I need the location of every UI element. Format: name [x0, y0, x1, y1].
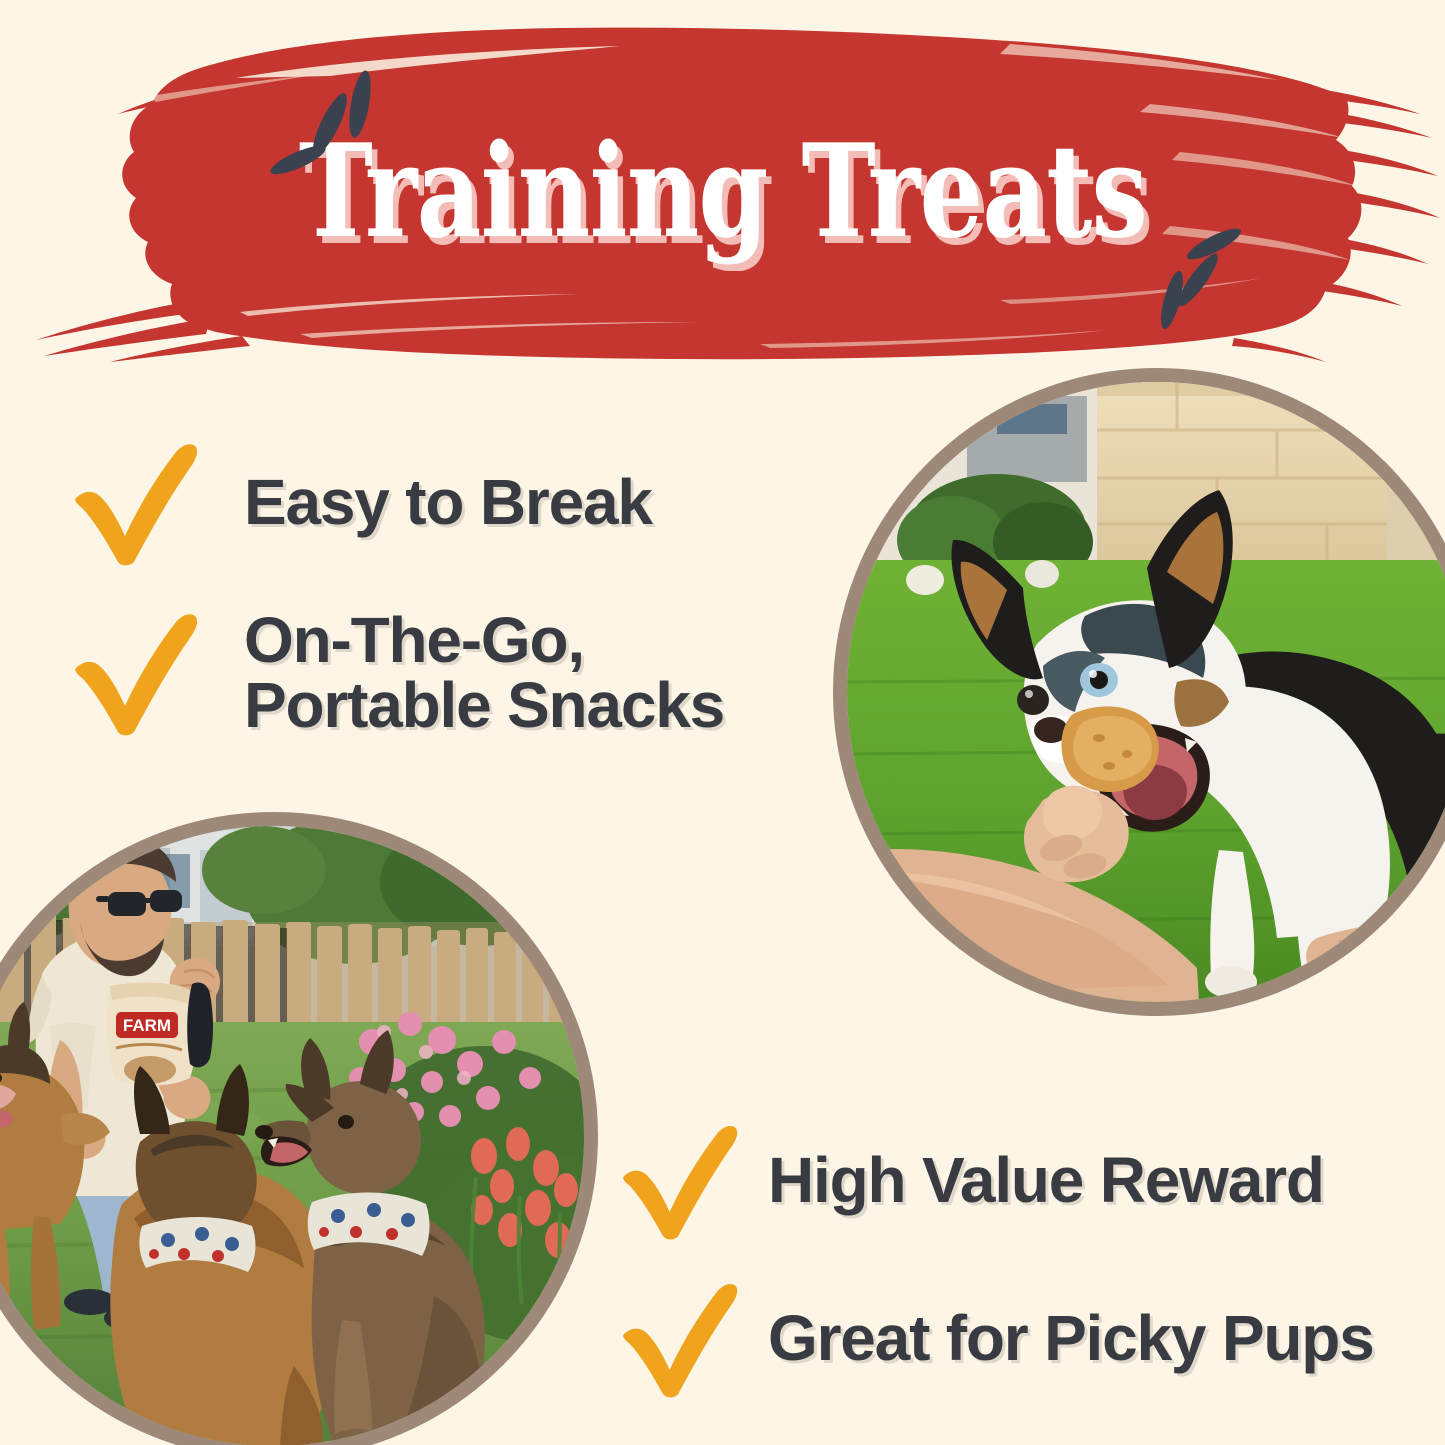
benefit-on-the-go: On-The-Go, Portable Snacks — [70, 608, 724, 739]
red-brush-stroke — [0, 0, 1445, 380]
photo-man-with-dogs-inner: FARM — [0, 826, 584, 1445]
benefit-great-for-picky-pups: Great for Picky Pups — [618, 1280, 1374, 1398]
check-icon — [70, 610, 202, 736]
header-banner: Training Treats — [0, 0, 1445, 380]
benefit-high-value-reward: High Value Reward — [618, 1122, 1324, 1240]
check-icon — [70, 440, 202, 566]
benefit-label: On-The-Go, Portable Snacks — [244, 608, 724, 739]
photo-man-with-dogs: FARM — [0, 812, 598, 1445]
treat-bag-label: FARM — [123, 1016, 171, 1035]
training-treats-poster: Training Treats Easy to Break — [0, 0, 1445, 1445]
benefit-label: High Value Reward — [768, 1148, 1324, 1213]
photo-dog-treat — [833, 368, 1445, 1016]
check-icon — [618, 1280, 742, 1398]
photo-man-with-dogs-illustration: FARM — [0, 826, 584, 1445]
photo-dog-treat-inner — [847, 382, 1445, 1002]
photo-dog-treat-illustration — [847, 382, 1445, 1002]
check-icon — [618, 1122, 742, 1240]
benefit-easy-to-break: Easy to Break — [70, 440, 652, 566]
benefit-label: Great for Picky Pups — [768, 1306, 1374, 1371]
benefit-label: Easy to Break — [244, 470, 652, 535]
